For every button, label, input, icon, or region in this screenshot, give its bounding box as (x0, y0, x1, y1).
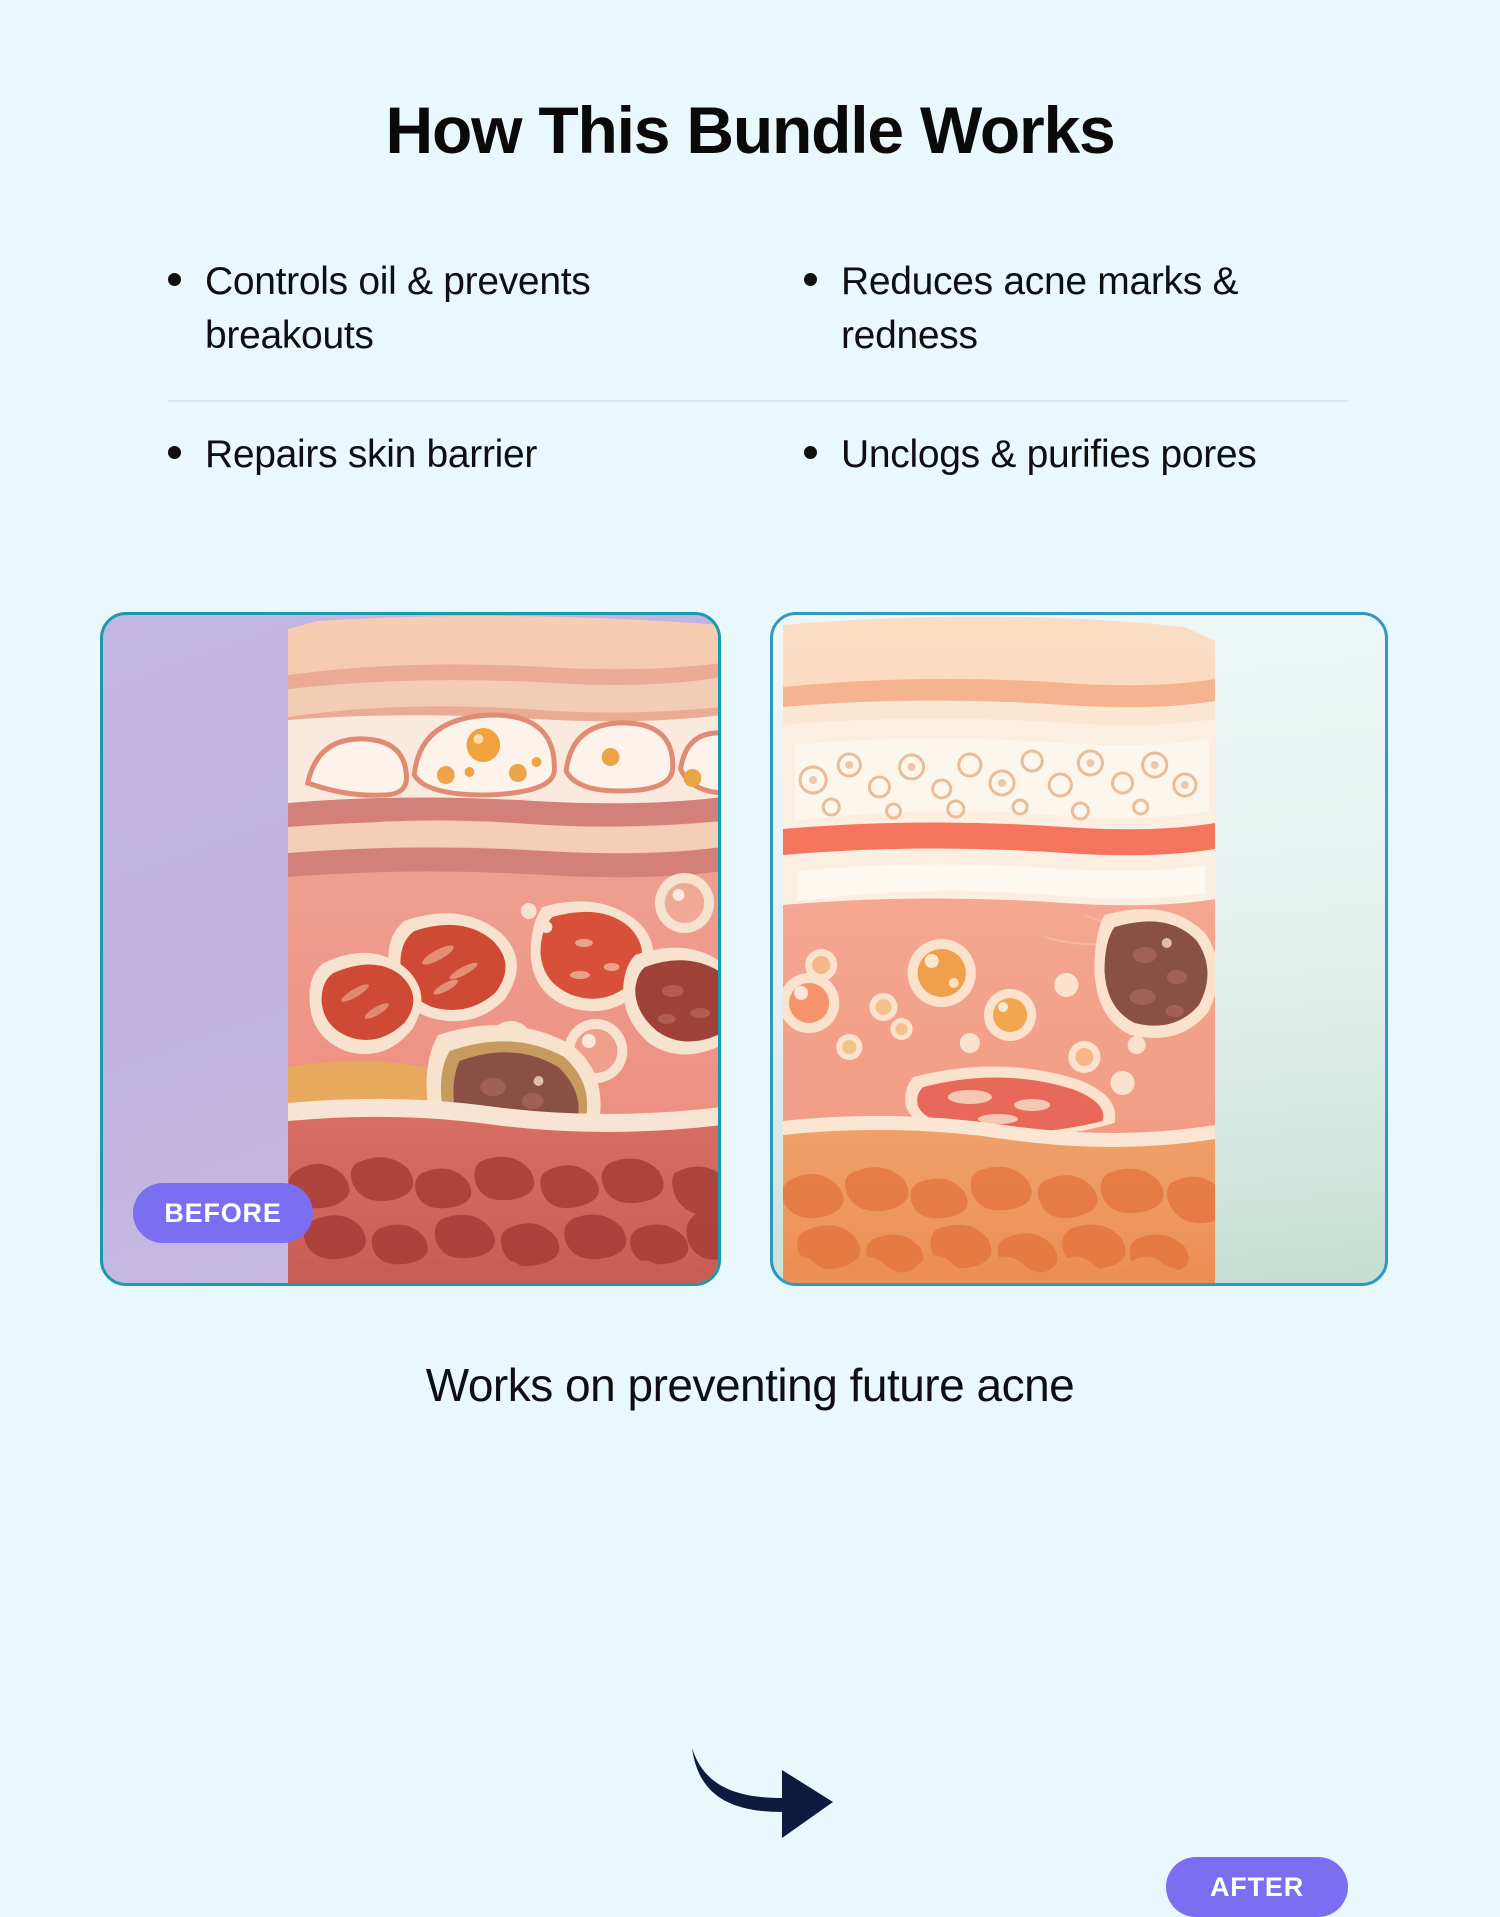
benefit-item-unclogs-pores: Unclogs & purifies pores (804, 428, 1348, 482)
after-panel-inner (773, 615, 1385, 1283)
benefits-column-right: Unclogs & purifies pores (758, 428, 1348, 482)
benefit-label: Reduces acne marks & redness (841, 255, 1281, 363)
bullet-dot-icon (804, 446, 817, 459)
skin-cross-section-before-illustration (288, 615, 721, 1283)
benefits-row-top: Controls oil & prevents breakouts Reduce… (168, 255, 1348, 400)
benefit-label: Controls oil & prevents breakouts (205, 255, 645, 363)
arrow-right-icon (690, 1740, 835, 1845)
footer-caption: Works on preventing future acne (0, 1358, 1500, 1412)
bullet-dot-icon (804, 273, 817, 286)
benefit-item-controls-oil: Controls oil & prevents breakouts (168, 255, 758, 363)
benefits-row-bottom: Repairs skin barrier Unclogs & purifies … (168, 400, 1348, 510)
benefits-list: Controls oil & prevents breakouts Reduce… (168, 255, 1348, 510)
benefits-column-left: Controls oil & prevents breakouts (168, 255, 758, 400)
benefits-column-left: Repairs skin barrier (168, 428, 758, 482)
before-badge-label: BEFORE (164, 1198, 281, 1229)
after-badge-label: AFTER (1210, 1872, 1304, 1903)
after-badge: AFTER (1166, 1857, 1348, 1917)
before-badge: BEFORE (133, 1183, 313, 1243)
bullet-dot-icon (168, 273, 181, 286)
benefit-item-repairs-barrier: Repairs skin barrier (168, 428, 758, 482)
before-after-comparison: BEFORE AFTER (0, 612, 1500, 1280)
benefits-divider (168, 400, 1348, 402)
bullet-dot-icon (168, 446, 181, 459)
benefit-label: Unclogs & purifies pores (841, 428, 1257, 482)
benefit-item-reduces-marks: Reduces acne marks & redness (804, 255, 1348, 363)
skin-cross-section-after-illustration (783, 615, 1215, 1283)
benefit-label: Repairs skin barrier (205, 428, 537, 482)
page-title: How This Bundle Works (0, 96, 1500, 165)
benefits-column-right: Reduces acne marks & redness (758, 255, 1348, 400)
after-panel-card (770, 612, 1388, 1286)
